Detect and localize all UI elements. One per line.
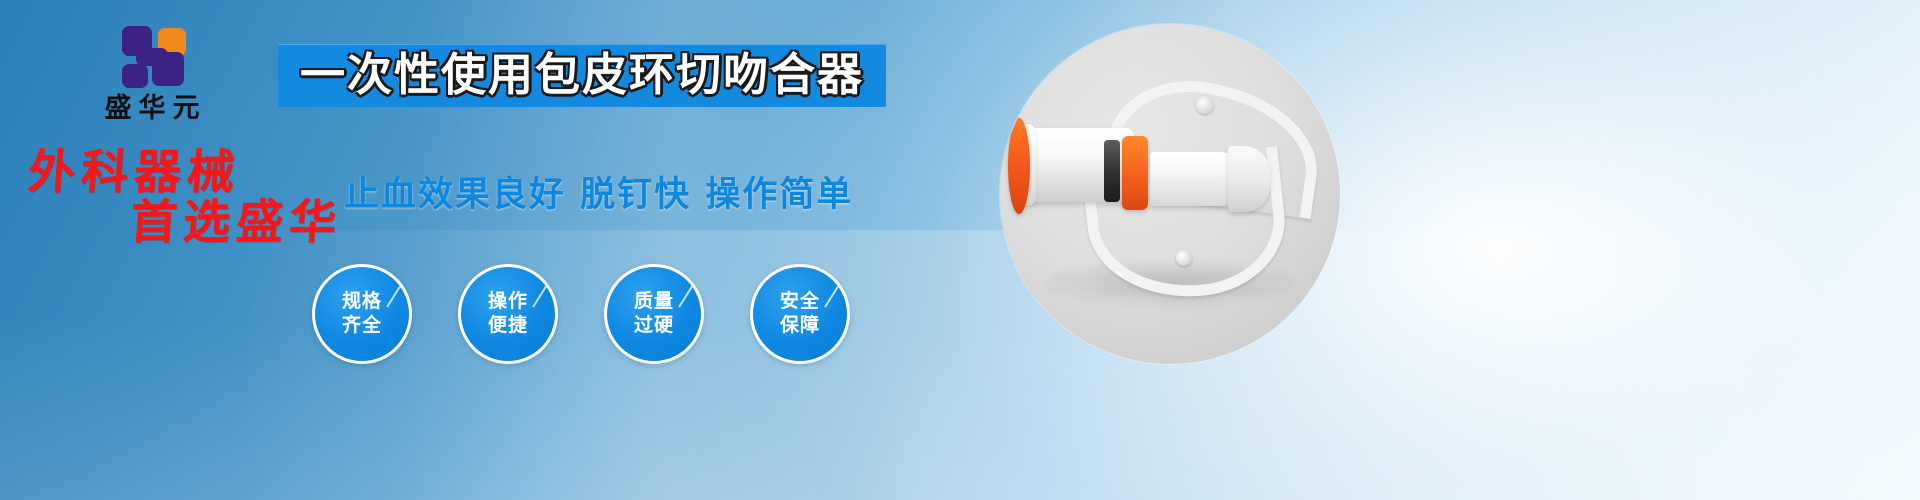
badge-line-1: 操作 xyxy=(488,290,528,314)
feature-badge-specs[interactable]: 规格 齐全 xyxy=(312,264,412,364)
brand-name: 盛华元 xyxy=(62,94,242,124)
badge-line-2: 便捷 xyxy=(488,314,528,338)
calligraphy-line-2: 首选盛华 xyxy=(18,198,351,248)
product-orange-ring-middle xyxy=(1122,136,1148,210)
badge-line-1: 安全 xyxy=(780,290,820,314)
page-title: 一次性使用包皮环切吻合器 xyxy=(300,52,864,97)
badge-line-2: 保障 xyxy=(780,314,820,338)
product-cone-tip xyxy=(1228,146,1270,212)
brand-logo[interactable]: 盛华元 xyxy=(62,26,242,124)
product-image xyxy=(1000,24,1340,364)
logo-block-bottom-right xyxy=(152,52,184,86)
product-hinge-lower xyxy=(1176,250,1192,266)
calligraphy-line-1: 外科器械 xyxy=(18,148,351,198)
feature-badge-safety[interactable]: 安全 保障 xyxy=(750,264,850,364)
badge-line-1: 规格 xyxy=(342,290,382,314)
background-sheen-lower xyxy=(0,320,1920,500)
logo-mark-icon xyxy=(114,26,190,88)
badge-line-2: 过硬 xyxy=(634,314,674,338)
product-orange-ring-left xyxy=(1008,118,1030,214)
headline-bar: 一次性使用包皮环切吻合器 xyxy=(278,44,886,107)
badge-line-2: 齐全 xyxy=(342,314,382,338)
feature-badge-list: 规格 齐全 操作 便捷 质量 过硬 安全 保障 xyxy=(312,264,850,364)
calligraphy-slogan: 外科器械 首选盛华 xyxy=(20,148,350,248)
product-hinge-upper xyxy=(1196,96,1214,114)
product-dark-band xyxy=(1104,140,1120,202)
badge-line-1: 质量 xyxy=(634,290,674,314)
logo-block-bottom-left xyxy=(122,64,148,88)
promo-banner: 盛华元 外科器械 首选盛华 一次性使用包皮环切吻合器 止血效果良好 脱钉快 操作… xyxy=(0,0,1920,500)
feature-badge-operation[interactable]: 操作 便捷 xyxy=(458,264,558,364)
feature-badge-quality[interactable]: 质量 过硬 xyxy=(604,264,704,364)
subtitle: 止血效果良好 脱钉快 操作简单 xyxy=(344,166,853,217)
